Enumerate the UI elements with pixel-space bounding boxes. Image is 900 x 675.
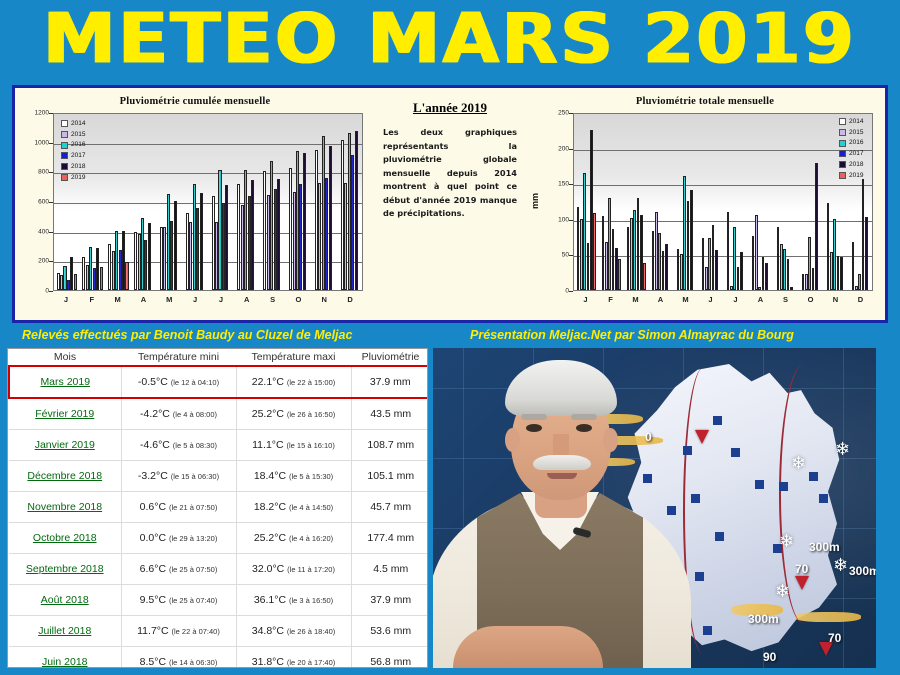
y-axis-tick-label: 800 [23,169,49,176]
presenter-person [433,348,695,668]
legend-label: 2018 [849,160,863,169]
plot-rect [573,113,873,291]
y-axis-tick-label: 0 [23,288,49,295]
presenter-eye-left [526,424,542,432]
page-root: METEO MARS 2019 Pluviométrie cumulée men… [0,0,900,675]
monthly-records-table-container: Mois Température mini Température maxi P… [7,348,428,668]
legend-label: 2017 [71,151,85,160]
credit-presenter: Présentation Meljac.Net par Simon Almayr… [470,328,794,342]
y-axis-tick-label: 0 [543,288,569,295]
bar-2018-N [840,257,843,290]
cell-temp-mini: -3.2°C (le 15 à 06:30) [121,461,236,492]
bar-2018-A [665,244,668,290]
bar-2019-J [74,274,77,290]
legend-label: 2019 [71,173,85,182]
month-link[interactable]: Mars 2019 [40,376,90,388]
y-axis-tick-label: 1000 [23,139,49,146]
x-axis-tick-label: M [114,295,120,304]
x-axis-tick-label: M [166,295,172,304]
legend-item-2017: 2017 [839,149,863,158]
snow-icon: ❄ [833,556,848,574]
x-axis-tick-label: O [808,295,814,304]
cell-temp-mini: 11.7°C (le 22 à 07:40) [121,616,236,647]
month-link[interactable]: Juillet 2018 [38,625,91,637]
y-axis-label: mm [530,193,540,209]
warning-triangle-icon [695,430,709,444]
bar-2015-A [755,215,758,290]
y-axis-tick-label: 200 [23,258,49,265]
x-axis-tick-label: S [270,295,275,304]
map-label: 90 [763,650,776,664]
cell-mois: Décembre 2018 [9,461,121,492]
month-link[interactable]: Décembre 2018 [27,470,102,482]
chart-title-cumulative: Pluviométrie cumulée mensuelle [15,96,375,107]
table-row: Décembre 2018-3.2°C (le 15 à 06:30)18.4°… [9,461,428,492]
table-header-row: Mois Température mini Température maxi P… [9,349,428,366]
map-label: 300m [809,540,840,554]
legend-label: 2015 [849,128,863,137]
cell-temp-maxi: 18.4°C (le 5 à 15:30) [236,461,351,492]
map-label: 70 [828,631,841,645]
x-axis-tick-label: J [193,295,197,304]
bar-2019-F [618,259,621,290]
x-axis-tick-label: N [833,295,838,304]
month-link[interactable]: Septembre 2018 [26,563,104,575]
presenter-mustache [533,455,591,470]
legend-label: 2014 [849,117,863,126]
cell-mois: Août 2018 [9,585,121,616]
cell-temp-mini: 0.0°C (le 29 à 13:20) [121,523,236,554]
month-link[interactable]: Janvier 2019 [35,439,95,451]
cell-pluviometrie: 108.7 mm [351,430,428,461]
commentary-heading: L'année 2019 [381,100,519,116]
table-row: Août 20189.5°C (le 25 à 07:40)36.1°C (le… [9,585,428,616]
legend-item-2019: 2019 [61,173,85,182]
bar-2018-O [303,153,306,290]
map-label: 70 [795,562,808,576]
legend-item-2014: 2014 [61,119,85,128]
legend-item-2015: 2015 [61,130,85,139]
legend-item-2017: 2017 [61,151,85,160]
legend-swatch-icon [839,129,846,136]
y-axis-tick-label: 50 [543,252,569,259]
charts-panel: Pluviométrie cumulée mensuelle 020040060… [12,85,888,323]
table-row: Janvier 2019-4.6°C (le 5 à 08:30)11.1°C … [9,430,428,461]
month-link[interactable]: Octobre 2018 [33,532,97,544]
bar-2018-A [148,223,151,290]
y-axis-tick-label: 100 [543,216,569,223]
bar-2018-O [815,163,818,290]
legend-swatch-icon [61,174,68,181]
cell-pluviometrie: 53.6 mm [351,616,428,647]
cell-temp-mini: 0.6°C (le 21 à 07:50) [121,492,236,523]
cell-pluviometrie: 56.8 mm [351,647,428,669]
chart-legend: 201420152016201720182019 [61,119,85,183]
legend-swatch-icon [61,120,68,127]
cell-pluviometrie: 37.9 mm [351,366,428,398]
bar-2018-J [740,252,743,290]
snow-icon: ❄ [791,454,806,472]
gridline [574,185,872,186]
page-header: METEO MARS 2019 [0,0,900,78]
legend-swatch-icon [61,131,68,138]
bar-2014-D [852,242,855,290]
presenter-hair [505,360,617,416]
legend-swatch-icon [839,161,846,168]
x-axis-tick-label: M [632,295,638,304]
presenter-ear-right [603,428,618,452]
gridline [574,150,872,151]
cell-temp-maxi: 31.8°C (le 20 à 17:40) [236,647,351,669]
chart-title-monthly: Pluviométrie totale mensuelle [525,96,885,107]
bar-2014-J [727,212,730,290]
presenter-eye-right [576,424,592,432]
cell-temp-maxi: 11.1°C (le 15 à 16:10) [236,430,351,461]
credits-bar: Relevés effectués par Benoit Baudy au Cl… [0,326,900,348]
bar-2018-S [790,287,793,290]
legend-swatch-icon [839,118,846,125]
legend-swatch-icon [61,152,68,159]
legend-swatch-icon [61,142,68,149]
legend-swatch-icon [61,163,68,170]
cell-temp-mini: 8.5°C (le 14 à 06:30) [121,647,236,669]
legend-item-2014: 2014 [839,117,863,126]
legend-label: 2019 [849,171,863,180]
x-axis-tick-label: J [733,295,737,304]
legend-item-2018: 2018 [839,160,863,169]
x-axis-tick-label: D [347,295,352,304]
cell-temp-maxi: 36.1°C (le 3 à 16:50) [236,585,351,616]
x-axis-tick-label: J [64,295,68,304]
y-axis-tick-label: 1200 [23,110,49,117]
y-axis-tick-label: 250 [543,110,569,117]
cell-mois: Mars 2019 [9,366,121,398]
cell-temp-mini: 6.6°C (le 25 à 07:50) [121,554,236,585]
legend-swatch-icon [839,150,846,157]
legend-label: 2016 [71,140,85,149]
snow-icon: ❄ [779,532,794,550]
legend-label: 2018 [71,162,85,171]
y-axis-tick-label: 200 [543,145,569,152]
bar-2018-A [765,263,768,290]
map-label: 300m [748,612,779,626]
cell-pluviometrie: 177.4 mm [351,523,428,554]
cell-mois: Novembre 2018 [9,492,121,523]
legend-item-2016: 2016 [61,140,85,149]
cell-temp-maxi: 32.0°C (le 11 à 17:20) [236,554,351,585]
presenter-ear-left [505,428,520,452]
x-axis-tick-label: J [708,295,712,304]
x-axis-tick-label: A [758,295,763,304]
month-link[interactable]: Février 2019 [35,408,94,420]
commentary-block: L'année 2019 Les deux graphiques représe… [375,88,525,320]
x-axis-tick-label: F [608,295,613,304]
cell-pluviometrie: 43.5 mm [351,398,428,430]
chart-legend: 201420152016201720182019 [839,117,863,181]
x-axis-tick-label: S [783,295,788,304]
monthly-records-table: Mois Température mini Température maxi P… [8,349,428,668]
table-row: Février 2019-4.2°C (le 4 à 08:00)25.2°C … [9,398,428,430]
legend-label: 2016 [849,138,863,147]
table-row: Mars 2019-0.5°C (le 12 à 04:10)22.1°C (l… [9,366,428,398]
cell-mois: Juin 2018 [9,647,121,669]
table-row: Novembre 20180.6°C (le 21 à 07:50)18.2°C… [9,492,428,523]
bar-2019-M [125,262,128,290]
bar-2018-J [225,185,228,290]
bar-2018-J [200,193,203,290]
legend-item-2018: 2018 [61,162,85,171]
cell-temp-maxi: 25.2°C (le 26 à 16:50) [236,398,351,430]
bar-2018-M [174,201,177,290]
cell-temp-mini: -4.6°C (le 5 à 08:30) [121,430,236,461]
chart-monthly-total: Pluviométrie totale mensuelle 0501001502… [525,88,885,320]
bar-2018-D [865,217,868,290]
cell-pluviometrie: 105.1 mm [351,461,428,492]
gridline [54,144,362,145]
x-axis-tick-label: N [322,295,327,304]
month-link[interactable]: Juin 2018 [42,656,88,668]
legend-label: 2017 [849,149,863,158]
cell-mois: Janvier 2019 [9,430,121,461]
month-link[interactable]: Août 2018 [41,594,89,606]
x-axis-tick-label: A [658,295,663,304]
credit-observer: Relevés effectués par Benoit Baudy au Cl… [22,328,352,342]
x-axis-tick-label: O [295,295,301,304]
x-axis-tick-label: J [219,295,223,304]
cell-temp-maxi: 25.2°C (le 4 à 16:20) [236,523,351,554]
legend-swatch-icon [839,172,846,179]
cell-temp-mini: -0.5°C (le 12 à 04:10) [121,366,236,398]
bar-2019-M [643,263,646,290]
legend-swatch-icon [839,140,846,147]
x-axis-tick-label: D [858,295,863,304]
cell-mois: Septembre 2018 [9,554,121,585]
bar-2018-N [329,146,332,290]
col-header-pluvio: Pluviométrie [351,349,428,366]
legend-item-2015: 2015 [839,128,863,137]
cell-temp-maxi: 34.8°C (le 26 à 18:40) [236,616,351,647]
weather-presenter-video[interactable]: ❄ ❄ ❄ ❄ ❄ 300m70300m300m70900 [433,348,888,668]
bar-2019-J [593,213,596,290]
legend-item-2016: 2016 [839,138,863,147]
chart-cumulative-rainfall: Pluviométrie cumulée mensuelle 020040060… [15,88,375,320]
cell-pluviometrie: 37.9 mm [351,585,428,616]
cell-pluviometrie: 4.5 mm [351,554,428,585]
cell-mois: Février 2019 [9,398,121,430]
table-row: Septembre 20186.6°C (le 25 à 07:50)32.0°… [9,554,428,585]
table-row: Juin 20188.5°C (le 14 à 06:30)31.8°C (le… [9,647,428,669]
x-axis-tick-label: A [141,295,146,304]
cell-temp-mini: -4.2°C (le 4 à 08:00) [121,398,236,430]
cell-temp-mini: 9.5°C (le 25 à 07:40) [121,585,236,616]
table-row: Juillet 201811.7°C (le 22 à 07:40)34.8°C… [9,616,428,647]
y-axis-tick-label: 400 [23,228,49,235]
commentary-paragraph: Les deux graphiques représentants la plu… [381,126,519,221]
table-row: Octobre 20180.0°C (le 29 à 13:20)25.2°C … [9,523,428,554]
page-title: METEO MARS 2019 [43,4,856,73]
warning-triangle-icon [795,576,809,590]
media-right-edge [876,348,888,668]
presenter-hands [453,626,603,668]
bar-2018-A [251,180,254,290]
presenter-brow-right [571,414,597,420]
bar-2019-F [100,267,103,290]
bar-2017-S [787,259,790,290]
snow-icon: ❄ [775,582,790,600]
cell-pluviometrie: 45.7 mm [351,492,428,523]
snow-icon: ❄ [835,440,850,458]
legend-label: 2014 [71,119,85,128]
cell-mois: Juillet 2018 [9,616,121,647]
presenter-brow-left [521,414,547,420]
month-link[interactable]: Novembre 2018 [27,501,102,513]
col-header-mois: Mois [9,349,121,366]
bar-2018-S [277,179,280,290]
x-axis-tick-label: J [583,295,587,304]
y-axis-tick-label: 150 [543,181,569,188]
presenter-mouth [547,473,577,479]
bar-2018-M [690,190,693,290]
legend-item-2019: 2019 [839,171,863,180]
plot-rect [53,113,363,291]
cell-temp-maxi: 22.1°C (le 22 à 15:00) [236,366,351,398]
col-header-mini: Température mini [121,349,236,366]
legend-label: 2015 [71,130,85,139]
y-axis-tick-label: 600 [23,199,49,206]
col-header-maxi: Température maxi [236,349,351,366]
bar-2018-D [355,131,358,290]
x-axis-tick-label: F [89,295,94,304]
bar-2018-J [715,250,718,290]
x-axis-tick-label: M [682,295,688,304]
x-axis-tick-label: A [244,295,249,304]
cell-mois: Octobre 2018 [9,523,121,554]
cell-temp-maxi: 18.2°C (le 4 à 14:50) [236,492,351,523]
